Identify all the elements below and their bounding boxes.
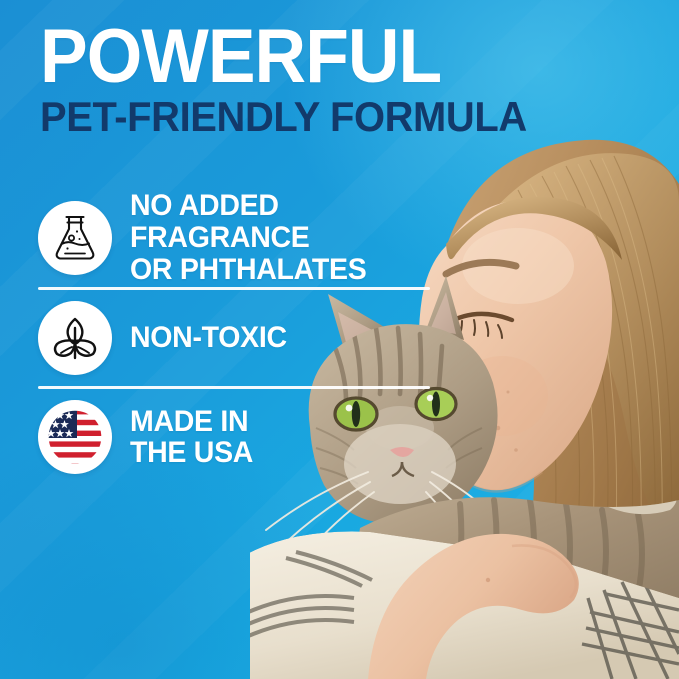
feature-divider	[38, 386, 430, 389]
feature-list: NO ADDED FRAGRANCE OR PHTHALATES	[38, 190, 438, 483]
feature-badge	[38, 301, 112, 375]
feature-label: MADE IN THE USA	[130, 406, 253, 470]
feature-badge	[38, 400, 112, 474]
headline-block: POWERFUL PET-FRIENDLY FORMULA	[40, 22, 552, 138]
headline-primary: POWERFUL	[40, 22, 522, 92]
feature-label: NON-TOXIC	[130, 322, 287, 354]
feature-divider	[38, 287, 430, 290]
feature-item-made-in-usa: MADE IN THE USA	[38, 391, 438, 483]
usa-flag-icon	[44, 406, 106, 468]
feature-item-non-toxic: NON-TOXIC	[38, 292, 438, 384]
marketing-banner: POWERFUL PET-FRIENDLY FORMULA	[0, 0, 679, 679]
feature-badge	[38, 201, 112, 275]
feature-item-no-added-fragrance: NO ADDED FRAGRANCE OR PHTHALATES	[38, 190, 438, 285]
leaf-plant-icon	[50, 313, 100, 363]
feature-label: NO ADDED FRAGRANCE OR PHTHALATES	[130, 190, 366, 285]
flask-icon	[52, 213, 98, 263]
headline-secondary: PET-FRIENDLY FORMULA	[40, 96, 527, 138]
